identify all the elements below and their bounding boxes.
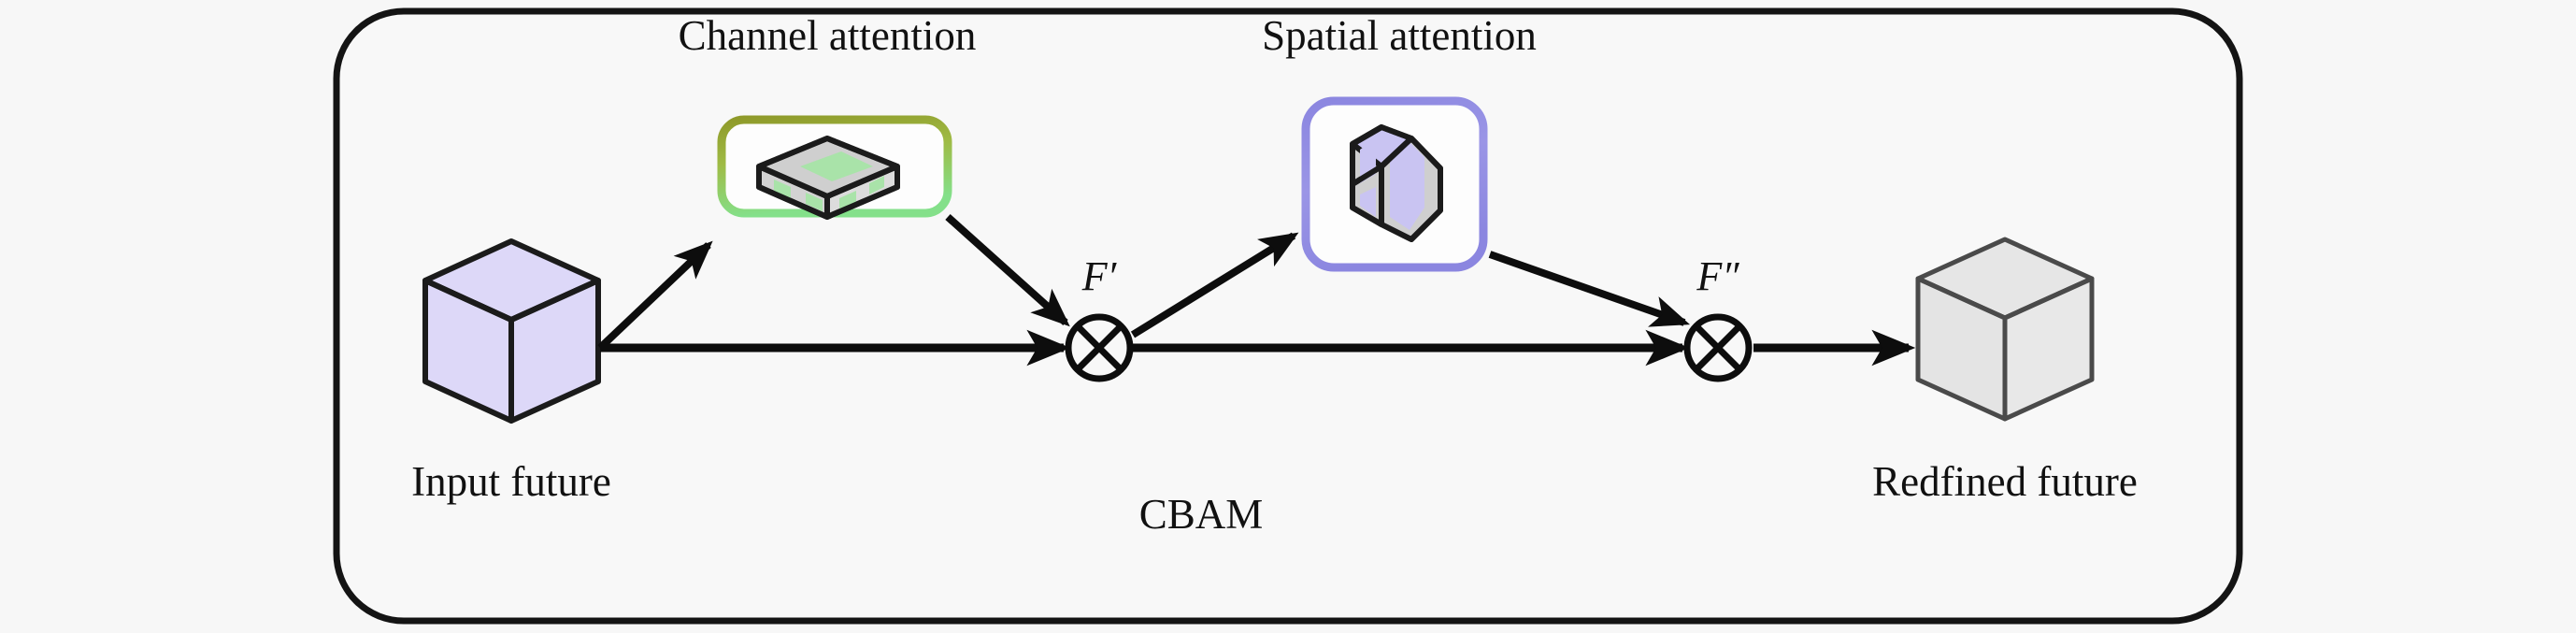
- figure-canvas: Input future Channel attention: [0, 0, 2576, 633]
- channel-attention-block[interactable]: [722, 120, 948, 217]
- f-double-prime-label: F″: [1696, 253, 1739, 299]
- spatial-attention-title: Spatial attention: [1262, 12, 1537, 59]
- input-feature-label: Input future: [411, 458, 611, 505]
- output-cube: [1918, 239, 2092, 419]
- cbam-diagram: Input future Channel attention: [0, 0, 2576, 633]
- f-prime-label: F′: [1081, 253, 1118, 299]
- input-cube: [425, 241, 598, 421]
- spatial-attention-block[interactable]: [1306, 101, 1483, 267]
- module-name-label: CBAM: [1139, 491, 1264, 538]
- refined-feature-label: Redfined future: [1872, 458, 2138, 505]
- channel-attention-title: Channel attention: [679, 12, 977, 59]
